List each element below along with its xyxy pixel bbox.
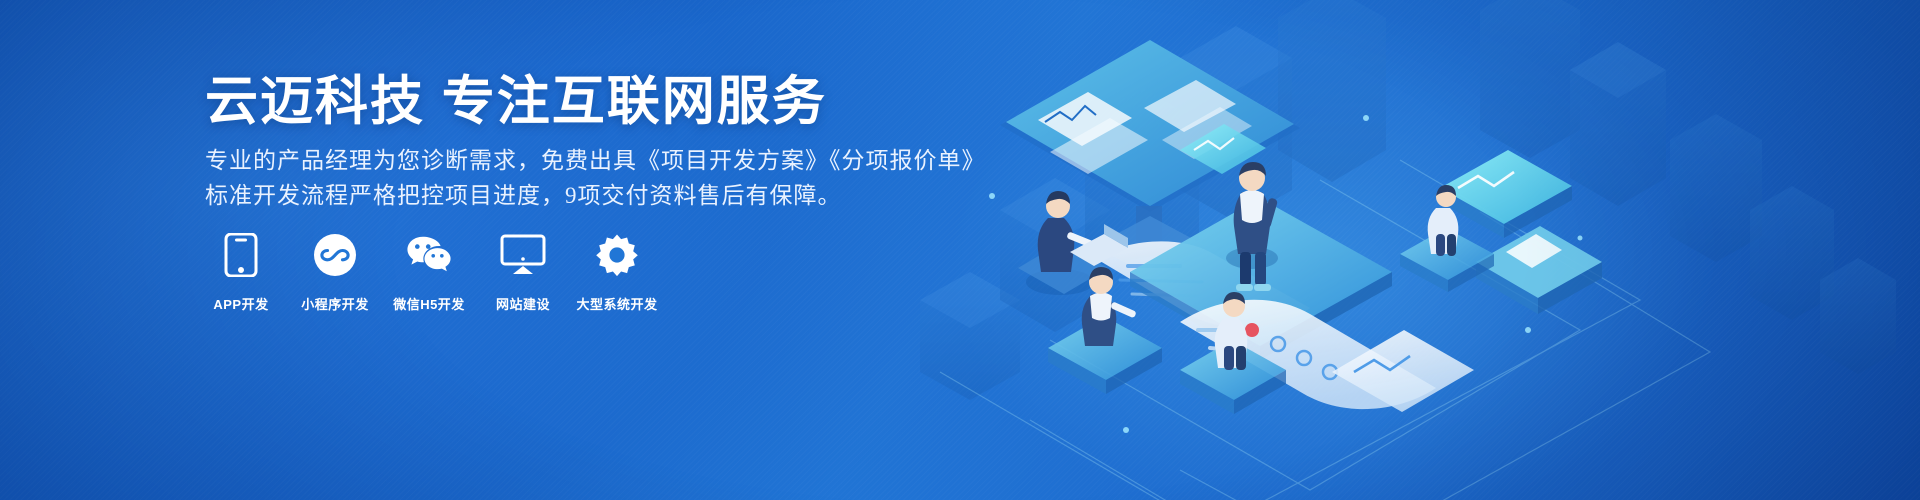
service-item-wechat[interactable]: 微信H5开发	[393, 232, 465, 313]
hero-banner: 云迈科技 专注互联网服务 专业的产品经理为您诊断需求，免费出具《项目开发方案》《…	[0, 0, 1920, 500]
service-label-large-system: 大型系统开发	[577, 294, 658, 313]
mobile-phone-icon[interactable]	[218, 232, 264, 278]
service-label-app: APP开发	[213, 294, 268, 313]
gear-icon[interactable]	[594, 232, 640, 278]
banner-content: 云迈科技 专注互联网服务 专业的产品经理为您诊断需求，免费出具《项目开发方案》《…	[0, 0, 960, 500]
chart-card-right	[1440, 150, 1572, 238]
box-card-right	[1476, 226, 1602, 314]
service-item-website[interactable]: 网站建设	[487, 232, 559, 313]
wechat-icon[interactable]	[406, 232, 452, 278]
illustration-artwork	[880, 0, 1920, 500]
banner-headline: 云迈科技 专注互联网服务	[205, 72, 827, 132]
isometric-illustration-svg	[880, 0, 1920, 500]
service-item-app[interactable]: APP开发	[205, 232, 277, 313]
banner-subtitle-line-1: 专业的产品经理为您诊断需求，免费出具《项目开发方案》《分项报价单》	[205, 145, 986, 177]
service-label-website: 网站建设	[496, 294, 550, 313]
service-icon-row: APP开发 小程序开发	[205, 232, 653, 313]
service-item-large-system[interactable]: 大型系统开发	[581, 232, 653, 313]
mini-program-icon[interactable]	[312, 232, 358, 278]
monitor-icon[interactable]	[500, 232, 546, 278]
service-label-mini-program: 小程序开发	[301, 294, 369, 313]
banner-subtitle-line-2: 标准开发流程严格把控项目进度，9项交付资料售后有保障。	[205, 180, 842, 212]
service-label-wechat-h5: 微信H5开发	[393, 294, 465, 313]
service-item-mini-program[interactable]: 小程序开发	[299, 232, 371, 313]
